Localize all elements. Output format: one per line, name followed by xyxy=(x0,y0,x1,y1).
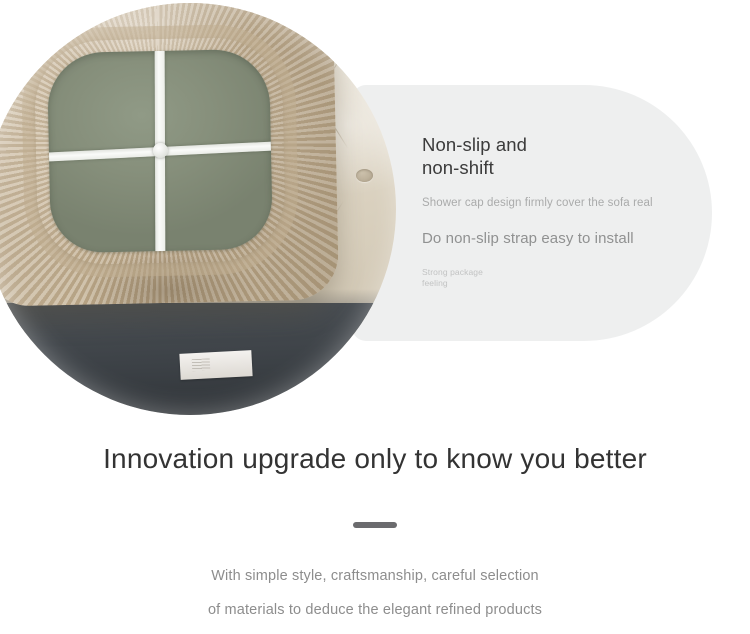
page-headline: Innovation upgrade only to know you bett… xyxy=(0,443,750,475)
seat-cover xyxy=(0,3,339,307)
strap-knot xyxy=(153,143,168,158)
feature-note: Strong package feeling xyxy=(422,267,483,289)
center-panel xyxy=(47,49,273,254)
product-label-tag xyxy=(179,350,252,380)
promo-banner: Non-slip and non-shift Shower cap design… xyxy=(0,0,750,634)
subtitle-line-1: With simple style, craftsmanship, carefu… xyxy=(0,568,750,584)
feature-subtitle: Do non-slip strap easy to install xyxy=(422,230,634,247)
subtitle-line-2: of materials to deduce the elegant refin… xyxy=(0,602,750,618)
feature-caption: Shower cap design firmly cover the sofa … xyxy=(422,197,653,209)
product-photo xyxy=(0,3,396,415)
section-divider xyxy=(353,522,397,528)
feature-panel: Non-slip and non-shift Shower cap design… xyxy=(352,85,712,341)
feature-title: Non-slip and non-shift xyxy=(422,133,527,179)
